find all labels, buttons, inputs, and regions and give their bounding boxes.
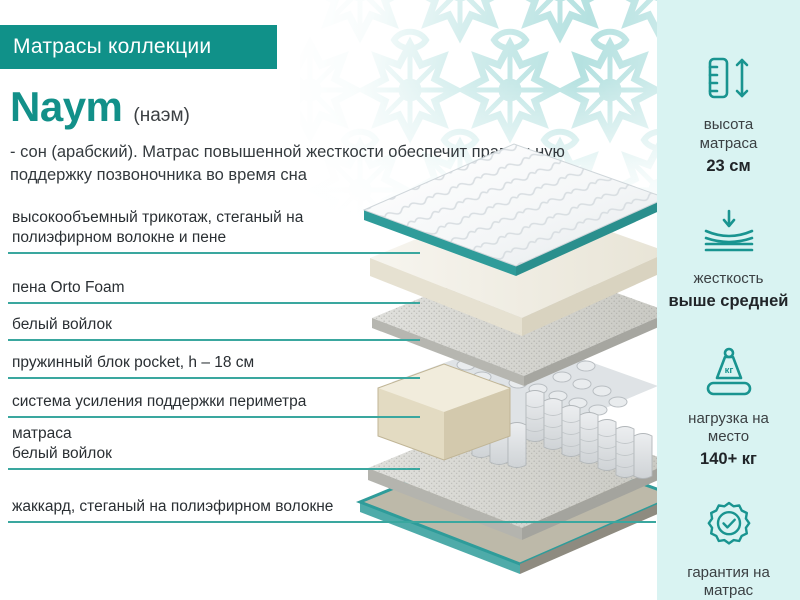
svg-text:кг: кг [724,365,733,376]
brand-title-row: Naym (наэм) [10,86,190,128]
callout-leader-line [8,302,420,304]
callout-leader-line [8,468,420,470]
callout-leader-line [8,252,420,254]
callout-label: высокообъемный трикотаж, стеганый на пол… [8,208,420,248]
callout-leader-line [8,339,420,341]
ruler-height-icon [703,52,755,104]
callout-pocket-spring-block: пружинный блок pocket, h – 18 см [8,353,420,379]
callout-label: пена Orto Foam [8,278,420,298]
spec-value: 140+ кг [700,449,757,470]
callout-orto-foam: пена Orto Foam [8,278,420,304]
weight-kg-icon: кг [701,346,757,398]
callout-perimeter-support: система усиления поддержки периметра [8,392,420,418]
mattress-product-card: Матрасы коллекции Naym (наэм) - сон (ара… [0,0,800,600]
spec-caption: высота матраса [700,116,758,154]
spec-caption: жесткость [693,270,763,289]
callout-leader-line [8,377,420,379]
callout-label: белый войлок [8,315,420,335]
collection-banner-label: Матрасы коллекции [13,35,211,59]
spec-mattress-height: высота матраса 23 см [657,52,800,176]
spec-load-capacity: кг нагрузка на место 140+ кг [657,346,800,470]
spec-value: 23 см [706,156,750,177]
callout-top-knit: высокообъемный трикотаж, стеганый на пол… [8,208,420,254]
spec-firmness: жесткость выше средней [657,206,800,311]
compression-icon [700,206,758,258]
callout-white-felt-bottom: матраса белый войлок [8,424,420,470]
callout-leader-line [8,416,420,418]
brand-name: Naym [10,86,122,128]
callout-leader-line [8,521,656,523]
guarantee-badge-icon [704,500,754,552]
callout-white-felt-top: белый войлок [8,315,420,341]
callout-label: система усиления поддержки периметра [8,392,420,412]
callout-label: пружинный блок pocket, h – 18 см [8,353,420,373]
callout-label: жаккард, стеганый на полиэфирном волокне [8,497,656,517]
brand-transliteration: (наэм) [133,106,189,125]
spec-caption: гарантия на матрас [687,564,770,600]
spec-warranty: гарантия на матрас 25 лет [657,500,800,600]
collection-banner: Матрасы коллекции [0,25,277,69]
spec-value: выше средней [669,291,789,312]
specs-sidebar: высота матраса 23 см жесткость выше сре [657,0,800,600]
callout-bottom-jacquard: жаккард, стеганый на полиэфирном волокне [8,497,656,523]
callout-label: матраса белый войлок [8,424,420,464]
spec-caption: нагрузка на место [688,410,769,448]
